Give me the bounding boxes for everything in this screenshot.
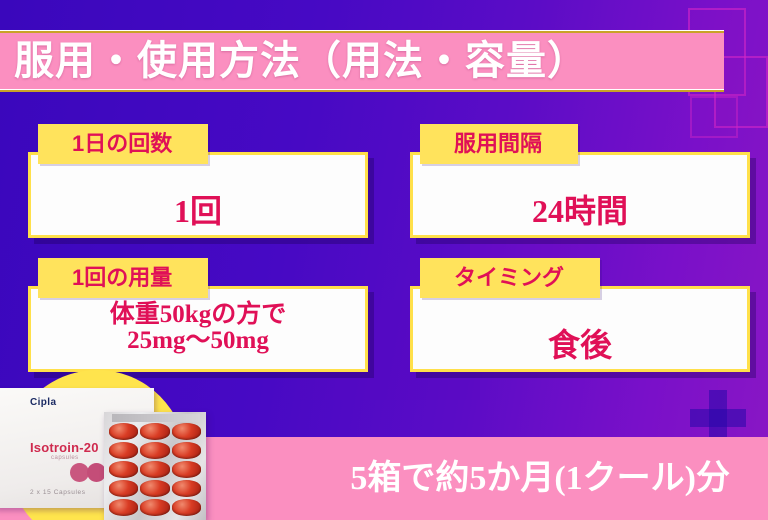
info-card-dose-amount: 1回の用量 体重50kgの方で 25mg〜50mg bbox=[28, 286, 368, 372]
capsule bbox=[109, 423, 138, 440]
card-value: 食後 bbox=[548, 329, 612, 363]
blister-pack bbox=[104, 412, 206, 520]
card-value: 1回 bbox=[174, 195, 222, 229]
card-value-line-1: 体重50kgの方で bbox=[110, 302, 286, 328]
card-body: 1回 bbox=[28, 152, 368, 238]
product-count-label: 2 x 15 Capsules bbox=[30, 489, 86, 496]
capsule bbox=[109, 461, 138, 478]
capsule bbox=[140, 442, 169, 459]
card-body: 食後 bbox=[410, 286, 750, 372]
info-card-dose-frequency: 1日の回数 1回 bbox=[28, 152, 368, 238]
capsule bbox=[109, 480, 138, 497]
capsule bbox=[140, 480, 169, 497]
card-label: 服用間隔 bbox=[420, 124, 578, 164]
capsule bbox=[172, 480, 201, 497]
capsule bbox=[140, 499, 169, 516]
bottom-banner-text: 5箱で約5か月(1クール)分 bbox=[350, 462, 730, 496]
capsule bbox=[140, 423, 169, 440]
info-card-timing: タイミング 食後 bbox=[410, 286, 750, 372]
card-label: 1日の回数 bbox=[38, 124, 208, 164]
card-body: 体重50kgの方で 25mg〜50mg bbox=[28, 286, 368, 372]
capsule bbox=[172, 461, 201, 478]
header-bottom-rule bbox=[0, 89, 724, 92]
capsule bbox=[172, 442, 201, 459]
info-card-dose-interval: 服用間隔 24時間 bbox=[410, 152, 750, 238]
card-value-line-2: 25mg〜50mg bbox=[110, 328, 286, 354]
product-form-label: capsules bbox=[51, 455, 79, 461]
card-body: 24時間 bbox=[410, 152, 750, 238]
page-title: 服用・使用方法（用法・容量） bbox=[14, 41, 588, 81]
product-photo: Cipla Isotroin-20 capsules 2 x 15 Capsul… bbox=[0, 374, 240, 520]
card-value-group: 体重50kgの方で 25mg〜50mg bbox=[110, 302, 286, 355]
capsule bbox=[140, 461, 169, 478]
card-label: 1回の用量 bbox=[38, 258, 208, 298]
product-name-label: Isotroin-20 bbox=[30, 440, 99, 455]
promo-graphic: 服用・使用方法（用法・容量） 1日の回数 1回 服用間隔 24時間 1回の用量 … bbox=[0, 0, 768, 520]
brand-label: Cipla bbox=[30, 397, 56, 408]
card-value: 24時間 bbox=[532, 195, 628, 229]
capsule bbox=[172, 499, 201, 516]
blister-header-strip bbox=[112, 414, 200, 422]
capsule bbox=[172, 423, 201, 440]
card-label: タイミング bbox=[420, 258, 600, 298]
header: 服用・使用方法（用法・容量） bbox=[0, 30, 724, 92]
capsule bbox=[109, 442, 138, 459]
background-rectangle-decoration bbox=[690, 96, 738, 138]
capsule bbox=[109, 499, 138, 516]
header-band: 服用・使用方法（用法・容量） bbox=[0, 33, 724, 89]
